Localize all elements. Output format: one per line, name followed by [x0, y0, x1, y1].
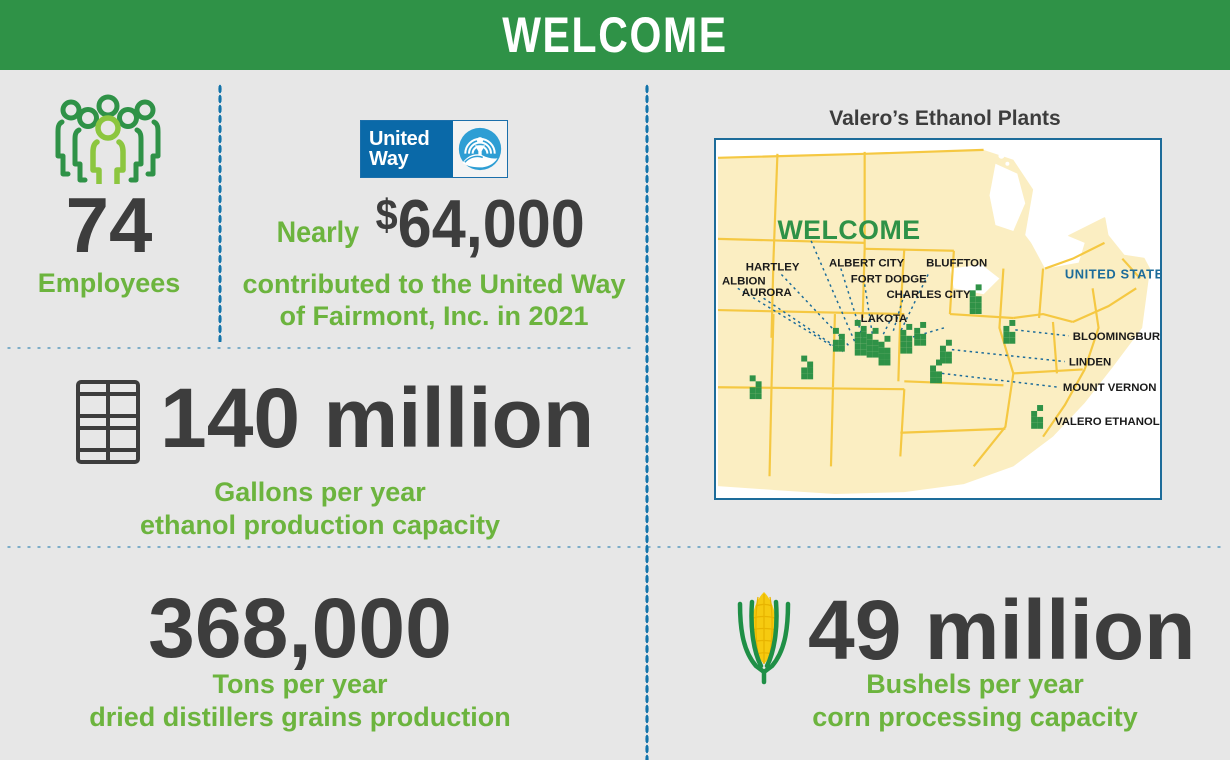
map-landmass [718, 150, 1156, 494]
map-panel: Valero’s Ethanol Plants [660, 78, 1230, 538]
gallons-description: Gallons per year ethanol production capa… [60, 476, 580, 542]
united-way-description-line-2: of Fairmont, Inc. in 2021 [228, 300, 640, 332]
divider-vertical-center [645, 84, 649, 760]
map-country-label: UNITED STATES [1065, 266, 1160, 281]
united-way-word-1: United [369, 129, 453, 149]
divider-horizontal-upper [4, 346, 636, 350]
united-way-value: 64,000 [397, 186, 584, 262]
infographic-page: WELCOME [0, 0, 1230, 760]
tons-description-line-1: Tons per year [0, 668, 600, 701]
united-way-logo: United Way [360, 120, 508, 178]
people-group-icon [52, 94, 164, 184]
employees-label: Employees [0, 270, 218, 297]
bushels-description-line-1: Bushels per year [730, 668, 1220, 701]
map-label-fort-dodge: FORT DODGE [851, 273, 927, 285]
bushels-description-line-2: corn processing capacity [730, 701, 1220, 734]
map-label-linden: LINDEN [1069, 356, 1111, 368]
stat-bushels: 49 million Bushels per year corn process… [660, 556, 1230, 760]
united-way-wordmark: United Way [361, 121, 453, 177]
map-label-aurora: AURORA [742, 287, 792, 299]
map-label-bloomingburg: BLOOMINGBURG [1073, 331, 1160, 343]
bushels-description: Bushels per year corn processing capacit… [730, 668, 1220, 734]
gallons-description-line-2: ethanol production capacity [60, 509, 580, 542]
map-label-albion: ALBION [722, 275, 766, 287]
united-way-prefix: Nearly [276, 218, 359, 258]
united-way-description: contributed to the United Way of Fairmon… [228, 268, 640, 333]
map-welcome-label: WELCOME [777, 215, 920, 245]
map-title: Valero’s Ethanol Plants [660, 108, 1230, 129]
map-frame: WELCOME [714, 138, 1162, 500]
header-banner: WELCOME [0, 0, 1230, 70]
united-way-hand-rainbow-icon [453, 121, 507, 177]
stat-tons: 368,000 Tons per year dried distillers g… [0, 556, 640, 760]
gallons-value: 140 million [160, 376, 594, 460]
stat-employees: 74 Employees [0, 78, 218, 343]
united-way-amount: $64,000 [375, 190, 584, 258]
divider-vertical-left [218, 84, 222, 342]
gallons-description-line-1: Gallons per year [60, 476, 580, 509]
map-label-bluffton: BLUFFTON [926, 258, 987, 270]
tons-value: 368,000 [0, 586, 600, 670]
map-label-charles-city: CHARLES CITY [886, 289, 971, 301]
united-way-word-2: Way [369, 149, 453, 169]
map-label-hartley: HARTLEY [746, 262, 800, 274]
currency-symbol: $ [375, 191, 397, 240]
map-legend-label: VALERO ETHANOL PLANTS [1055, 416, 1160, 428]
us-plants-map: WELCOME [716, 140, 1160, 498]
map-label-mount-vernon: MOUNT VERNON [1063, 382, 1157, 394]
stat-gallons: 140 million Gallons per year ethanol pro… [0, 356, 640, 546]
map-label-albert-city: ALBERT CITY [829, 258, 905, 270]
united-way-description-line-1: contributed to the United Way [228, 268, 640, 300]
page-title: WELCOME [111, 0, 1120, 70]
bushels-value: 49 million [808, 588, 1195, 672]
employees-value: 74 [0, 186, 218, 264]
tons-description-line-2: dried distillers grains production [0, 701, 600, 734]
map-label-lakota: LAKOTA [861, 313, 908, 325]
united-way-amount-row: Nearly $64,000 [228, 190, 640, 258]
stat-united-way: United Way Nearly $64,000 [228, 78, 640, 343]
tons-description: Tons per year dried distillers grains pr… [0, 668, 600, 734]
oil-barrel-icon [68, 376, 148, 468]
